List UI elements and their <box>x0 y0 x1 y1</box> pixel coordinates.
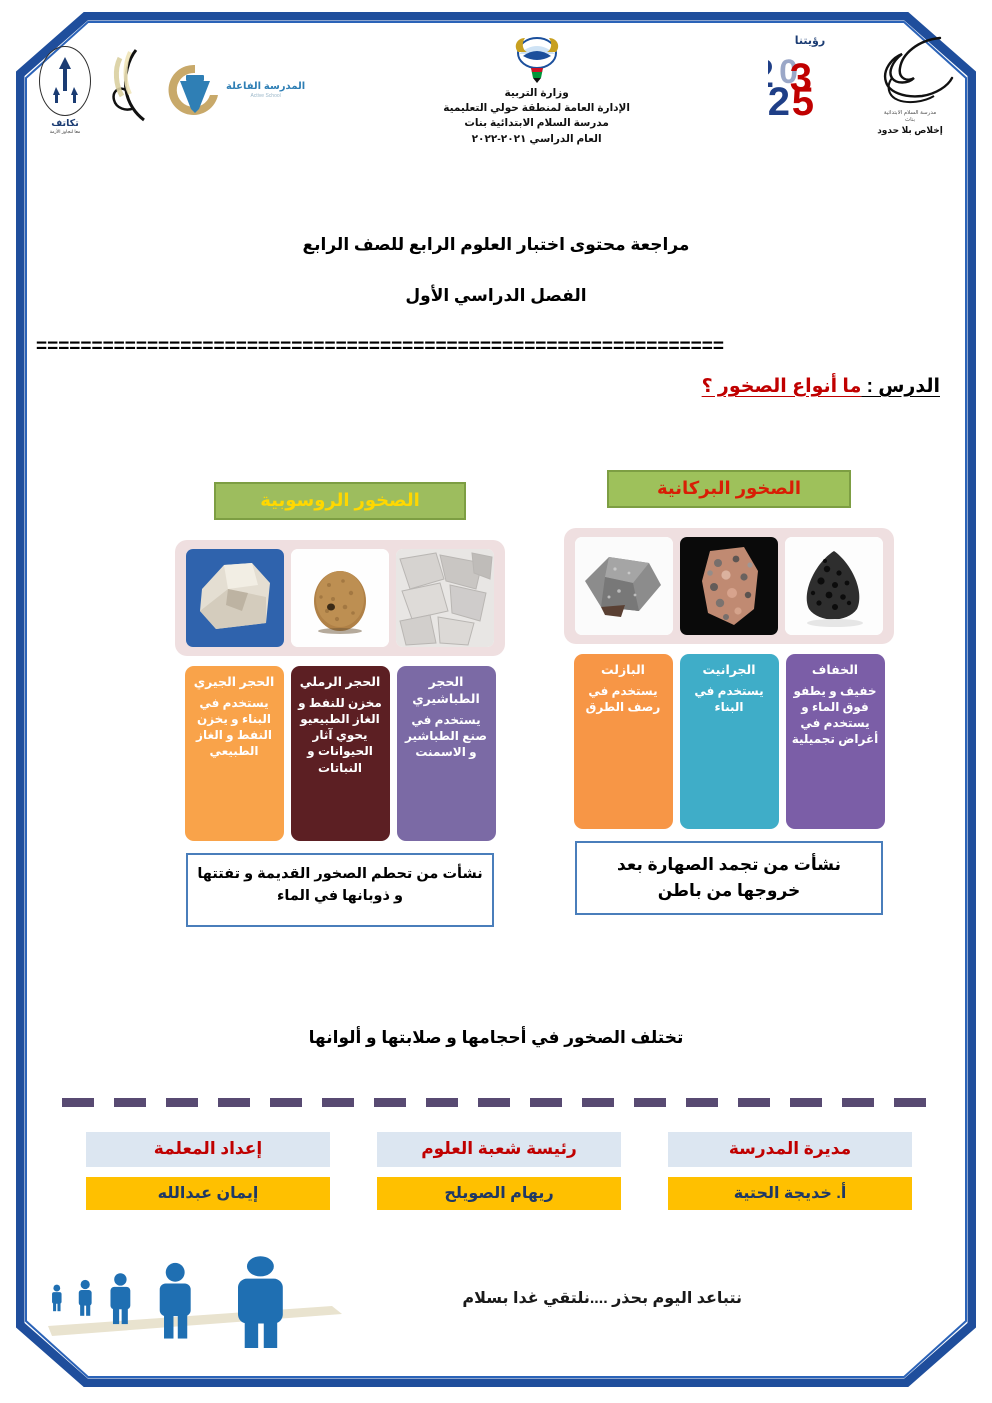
rock-card-chalk-name: الحجر الطباشيري <box>403 674 490 708</box>
active-school-sub: Active School <box>226 93 305 99</box>
active-school-logo: المدرسة الفاعلة Active School <box>166 61 305 119</box>
signature-teacher: إعداد المعلمة إيمان عبدالله <box>86 1132 330 1210</box>
active-school-label: المدرسة الفاعلة <box>226 81 305 92</box>
rock-card-sandstone-name: الحجر الرملي <box>297 674 384 691</box>
category-igneous: الصخور البركانية <box>564 470 894 915</box>
rock-card-limestone-name: الحجر الجيري <box>191 674 278 691</box>
vision-word: رؤيتنا <box>768 34 852 47</box>
header-logos-left: المدرسة الفاعلة Active School <box>34 28 305 138</box>
takatuf-arrow-icon <box>39 46 91 116</box>
closing-statement: تختلف الصخور في أحجامها و صلابتها و ألوا… <box>0 1028 992 1048</box>
limestone-rock-photo <box>186 549 284 647</box>
summary-igneous: نشأت من تجمد الصهارة بعد خروجها من باطن <box>575 841 883 915</box>
dashed-divider <box>62 1098 928 1107</box>
signature-science-head-role: رئيسة شعبة العلوم <box>377 1132 621 1167</box>
section-divider-equals: ========================================… <box>36 336 956 358</box>
header-logos-right: مدرسة السلام الابتدائية بنات إخلاص بلا ح… <box>768 28 958 136</box>
school-logo-line2: بنات <box>862 117 958 124</box>
page-subtitle: الفصل الدراسي الأول <box>0 286 992 306</box>
rock-card-sandstone: الحجر الرملي مخزن للنفط و الغاز الطبيعيو… <box>291 666 390 841</box>
basalt-rock-photo <box>575 537 673 635</box>
signature-section: مديرة المدرسة أ. خديجة الحتية رئيسة شعبة… <box>86 1132 912 1210</box>
takatuf-logo: تكاتف معا لنجاوز الأزمة <box>34 46 96 135</box>
rock-card-pumice: الخفاف خفيف و يطفو فوق الماء و يستخدم في… <box>786 654 885 829</box>
worksheet-page: مدرسة السلام الابتدائية بنات إخلاص بلا ح… <box>0 0 992 1403</box>
takatuf-sub: معا لنجاوز الأزمة <box>34 129 96 135</box>
people-figures-icon <box>52 1256 283 1348</box>
signature-teacher-role: إعداد المعلمة <box>86 1132 330 1167</box>
ministry-line-3: مدرسة السلام الابتدائية بنات <box>387 116 687 131</box>
sandstone-rock-photo <box>291 549 389 647</box>
rock-card-granite-name: الجرانيت <box>686 662 773 679</box>
summary-sedimentary: نشأت من تحطم الصخور القديمة و تفتتها و ذ… <box>186 853 494 927</box>
ministry-line-4: العام الدراسي ٢٠٢١-٢٠٢٢ <box>387 132 687 147</box>
rock-card-chalk: الحجر الطباشيري يستخدم في صنع الطباشير و… <box>397 666 496 841</box>
category-title-sedimentary: الصخور الروسوبية <box>214 482 466 520</box>
school-logo-motto: إخلاص بلا حدود <box>862 125 958 136</box>
signature-teacher-name: إيمان عبدالله <box>86 1177 330 1210</box>
signature-principal-name: أ. خديجة الحتية <box>668 1177 912 1210</box>
pumice-rock-photo <box>785 537 883 635</box>
chalk-rock-photo <box>396 549 494 647</box>
calligraphy-logo <box>102 42 160 138</box>
ministry-line-2: الإدارة العامة لمنطقة حولي التعليمية <box>387 101 687 116</box>
signature-science-head-name: ريهام الصويلح <box>377 1177 621 1210</box>
takatuf-label: تكاتف <box>34 118 96 129</box>
rock-card-sandstone-desc: مخزن للنفط و الغاز الطبيعيو يحوي آثار ال… <box>297 695 384 776</box>
category-title-igneous: الصخور البركانية <box>607 470 851 508</box>
rock-card-pumice-desc: خفيف و يطفو فوق الماء و يستخدم في أغراض … <box>792 683 879 748</box>
photo-strip-sedimentary <box>175 540 505 656</box>
ministry-block: وزارة التربية الإدارة العامة لمنطقة حولي… <box>387 28 687 147</box>
rock-card-basalt: البازلت يستخدم في رصف الطرق <box>574 654 673 829</box>
granite-rock-photo <box>680 537 778 635</box>
lesson-heading: الدرس : ما أنواع الصخور ؟ <box>702 375 940 398</box>
card-row-sedimentary: الحجر الطباشيري يستخدم في صنع الطباشير و… <box>175 666 505 841</box>
rock-card-granite-desc: يستخدم في البناء <box>686 683 773 715</box>
vision-year-graphic: 2 0 3 2 5 <box>768 47 852 119</box>
vision-2035-logo: رؤيتنا 2 0 3 2 5 <box>768 34 852 119</box>
rock-card-basalt-desc: يستخدم في رصف الطرق <box>580 683 667 715</box>
lesson-label: الدرس : <box>861 376 940 397</box>
rock-card-chalk-desc: يستخدم في صنع الطباشير و الاسمنت <box>403 712 490 761</box>
school-identity-logo: مدرسة السلام الابتدائية بنات إخلاص بلا ح… <box>862 34 958 136</box>
signature-principal-role: مديرة المدرسة <box>668 1132 912 1167</box>
active-school-check-icon <box>166 61 224 119</box>
school-logo-line1: مدرسة السلام الابتدائية <box>862 110 958 117</box>
rock-card-pumice-name: الخفاف <box>792 662 879 679</box>
signature-science-head: رئيسة شعبة العلوم ريهام الصويلح <box>377 1132 621 1210</box>
rock-card-granite: الجرانيت يستخدم في البناء <box>680 654 779 829</box>
svg-text:2: 2 <box>768 80 790 119</box>
signature-principal: مديرة المدرسة أ. خديجة الحتية <box>668 1132 912 1210</box>
rock-card-basalt-name: البازلت <box>580 662 667 679</box>
photo-strip-igneous <box>564 528 894 644</box>
rock-card-limestone: الحجر الجيري يستخدم في البناء و يخزن الن… <box>185 666 284 841</box>
distancing-slogan: نتباعد اليوم بحذر ....نلتقي غدا بسلام <box>462 1288 742 1308</box>
rock-card-limestone-desc: يستخدم في البناء و يخزن النفط و الغاز ال… <box>191 695 278 760</box>
svg-text:5: 5 <box>792 80 814 119</box>
school-swoosh-icon <box>862 34 958 110</box>
kuwait-emblem-icon <box>511 32 563 84</box>
card-row-igneous: الخفاف خفيف و يطفو فوق الماء و يستخدم في… <box>564 654 894 829</box>
page-title: مراجعة محتوى اختبار العلوم الرابع للصف ا… <box>0 235 992 255</box>
lesson-value: ما أنواع الصخور ؟ <box>702 376 862 397</box>
document-header: مدرسة السلام الابتدائية بنات إخلاص بلا ح… <box>34 28 958 193</box>
ministry-line-1: وزارة التربية <box>387 86 687 101</box>
category-sedimentary: الصخور الروسوبية <box>175 482 505 927</box>
